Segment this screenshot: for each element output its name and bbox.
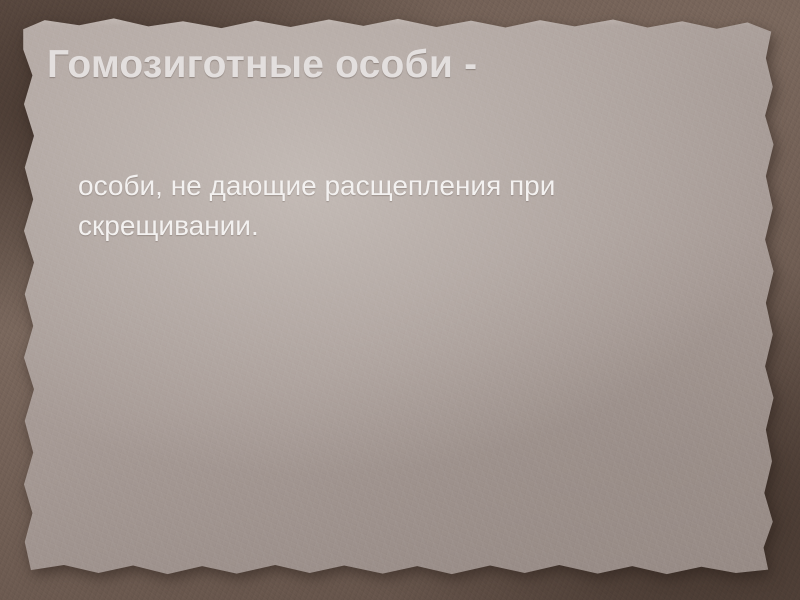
slide-content: Гомозиготные особи - особи, не дающие ра… [0, 0, 800, 600]
body-line: особи, не дающие расщепления при [78, 166, 718, 206]
slide-canvas: Гомозиготные особи - особи, не дающие ра… [0, 0, 800, 600]
slide-body-text: особи, не дающие расщепления при скрещив… [78, 166, 718, 246]
slide-title: Гомозиготные особи - [47, 42, 747, 88]
body-line: скрещивании. [78, 206, 718, 246]
